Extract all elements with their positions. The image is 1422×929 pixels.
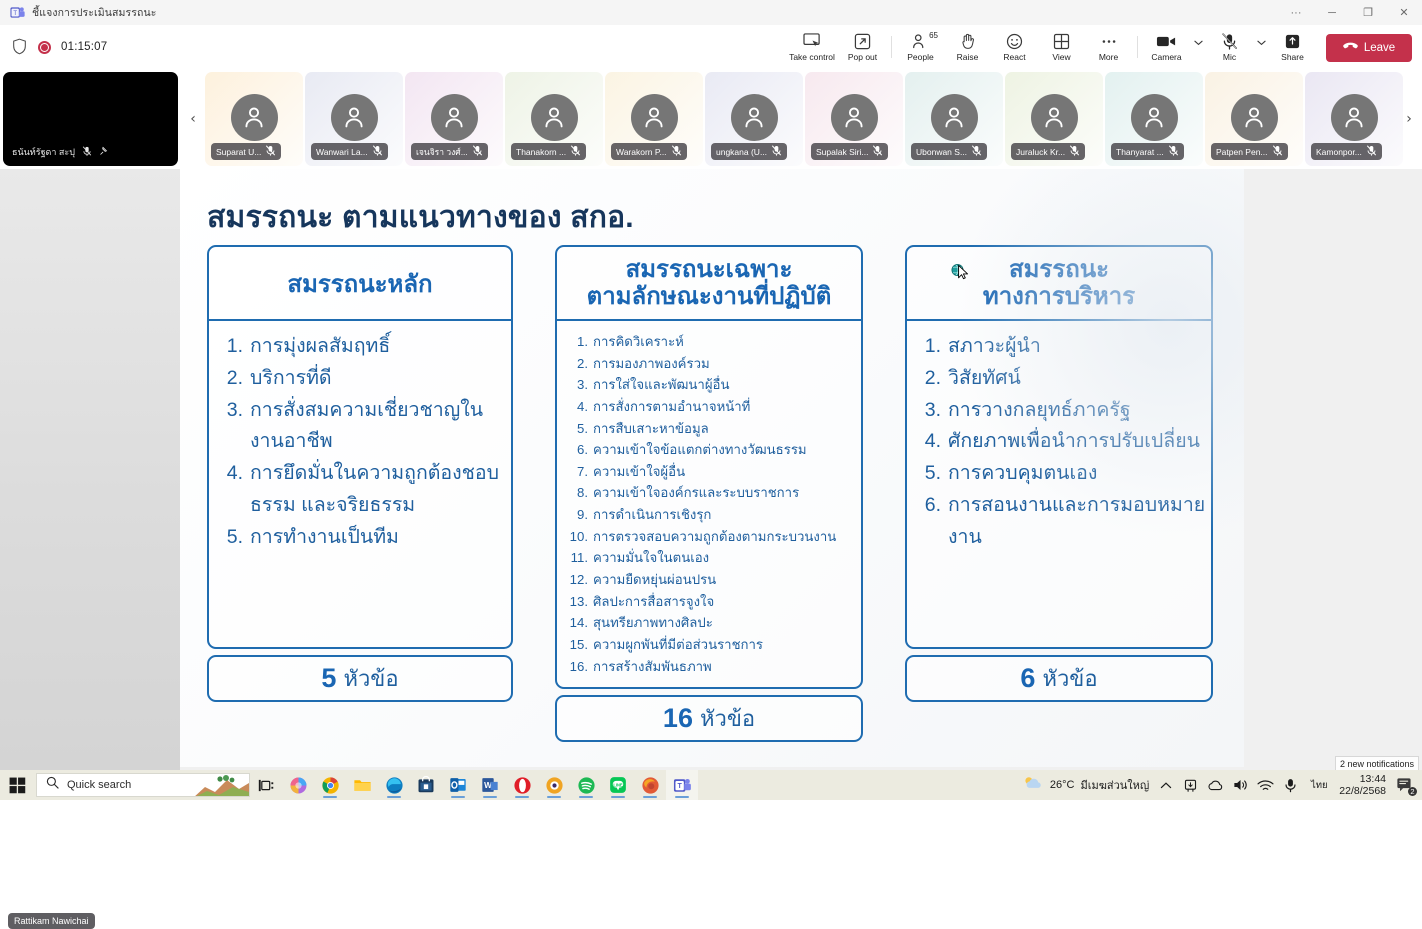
list-item-text: วิสัยทัศน์ [948, 363, 1207, 395]
list-item-number: 5. [561, 418, 588, 440]
participant-mic-muted-icon [971, 145, 982, 159]
recording-timer: 01:15:07 [61, 41, 107, 53]
list-item: 1.การมุ่งผลสัมฤทธิ์ [213, 331, 507, 363]
list-item: 3.การวางกลยุทธ์ภาครัฐ [911, 395, 1207, 427]
participant-name-tag: Juraluck Kr... [1011, 143, 1085, 160]
spotify-running-indicator [579, 796, 593, 798]
windows-taskbar: Quick search [0, 770, 1422, 800]
raise-hand-icon [960, 32, 976, 51]
participant-name-tag: Wanwari La... [311, 143, 388, 160]
participant-name-tag: Thanyarat ... [1111, 143, 1184, 160]
wifi-icon[interactable] [1257, 777, 1274, 794]
list-item-number: 2. [911, 363, 941, 395]
functional-card-heading: สมรรถนะเฉพาะ ตามลักษณะงานที่ปฏิบัติ [557, 247, 861, 321]
maximize-button[interactable]: ❐ [1350, 0, 1386, 25]
list-item-text: การสั่งการตามอำนาจหน้าที่ [593, 396, 857, 418]
participant-name-tag: Supalak Siri... [811, 143, 888, 160]
list-item-number: 10. [561, 526, 588, 548]
list-item-text: สุนทรียภาพทางศิลปะ [593, 612, 857, 634]
window-title-bar: T ชี้แจงการประเมินสมรรถนะ ··· ─ ❐ ✕ [0, 0, 1422, 25]
pop-out-icon [854, 32, 871, 51]
managerial-count-value: 6 [1020, 663, 1035, 694]
list-item-text: การยึดมั่นในความถูกต้องชอบธรรม และจริยธร… [250, 458, 507, 522]
participant-mic-muted-icon [671, 145, 682, 159]
list-item-text: ความผูกพันที่มีต่อส่วนราชการ [593, 634, 857, 656]
list-item: 10.การตรวจสอบความถูกต้องตามกระบวนงาน [561, 526, 857, 548]
list-item-number: 4. [561, 396, 588, 418]
volume-icon[interactable] [1232, 777, 1249, 794]
competency-column-managerial: สมรรถนะ ทางการบริหาร 1.สภาวะผู้นำ2.วิสัย… [905, 245, 1213, 742]
competency-column-functional: สมรรถนะเฉพาะ ตามลักษณะงานที่ปฏิบัติ 1.กา… [555, 245, 863, 742]
system-tray: 26°C มีเมฆส่วนใหญ่ [1022, 773, 1416, 797]
take-control-button[interactable]: Take control [785, 27, 839, 67]
list-item-text: ความเข้าใจผู้อื่น [593, 461, 857, 483]
outlook-icon[interactable] [442, 770, 474, 800]
microphone-tray-icon[interactable] [1282, 777, 1299, 794]
functional-heading-line-2: ตามลักษณะงานที่ปฏิบัติ [587, 283, 832, 310]
list-item-number: 9. [561, 504, 588, 526]
meeting-toolbar: 01:15:07 Take control Pop out [0, 25, 1422, 69]
weather-cloud-icon [1022, 775, 1044, 796]
avatar [531, 94, 578, 141]
participant-name-label: Thanyarat ... [1116, 147, 1164, 157]
copilot-icon[interactable] [282, 770, 314, 800]
toolbar-actions: Take control Pop out 65 People [785, 27, 1412, 67]
raise-hand-label: Raise [957, 53, 979, 62]
list-item-text: การคิดวิเคราะห์ [593, 331, 857, 353]
raise-hand-button[interactable]: Raise [944, 27, 991, 67]
self-name-row: ธนันท์รัฐดา สะปุ [12, 145, 109, 159]
participant-tiles: Suparat U...Wanwari La...เจนจิรา วงศ์...… [205, 72, 1403, 166]
list-item: 5.การสืบเสาะหาข้อมูล [561, 418, 857, 440]
list-item: 4.การสั่งการตามอำนาจหน้าที่ [561, 396, 857, 418]
list-item-text: การใส่ใจและพัฒนาผู้อื่น [593, 374, 857, 396]
managerial-card: สมรรถนะ ทางการบริหาร 1.สภาวะผู้นำ2.วิสัย… [905, 245, 1213, 649]
list-item-number: 8. [561, 482, 588, 504]
participant-tile[interactable]: Kamonpor... [1305, 72, 1403, 166]
share-label: Share [1281, 53, 1304, 62]
participant-mic-muted-icon [372, 145, 383, 159]
list-item-text: บริการที่ดี [250, 363, 507, 395]
svg-text:T: T [13, 11, 17, 17]
take-control-icon [803, 32, 822, 51]
leave-label: Leave [1364, 42, 1395, 54]
list-item: 5.การควบคุมตนเอง [911, 458, 1207, 490]
participant-tile[interactable]: Thanyarat ... [1105, 72, 1203, 166]
participant-mic-muted-icon [1069, 145, 1080, 159]
search-icon [46, 776, 59, 794]
take-control-label: Take control [789, 53, 835, 62]
clock[interactable]: 13:44 22/8/2568 [1339, 773, 1386, 797]
avatar [1031, 94, 1078, 141]
avatar [1331, 94, 1378, 141]
avatar [331, 94, 378, 141]
participant-name-tag: Thanakorn ... [511, 143, 586, 160]
word-running-indicator [483, 796, 497, 798]
react-smiley-icon [1006, 32, 1023, 51]
functional-heading-line-1: สมรรถนะเฉพาะ [587, 256, 832, 283]
core-count-unit: หัวข้อ [343, 661, 398, 696]
slide-title: สมรรถนะ ตามแนวทางของ สกอ. [207, 194, 634, 241]
list-item: 3.การใส่ใจและพัฒนาผู้อื่น [561, 374, 857, 396]
participant-name-label: Ubonwan S... [916, 147, 967, 157]
chrome-icon[interactable] [314, 770, 346, 800]
managerial-heading-line-1: สมรรถนะ [983, 256, 1135, 283]
line-icon[interactable]: LINE [602, 770, 634, 800]
toolbar-divider-2 [1137, 36, 1138, 58]
self-name-label: ธนันท์รัฐดา สะปุ [12, 145, 75, 159]
list-item-number: 3. [213, 395, 243, 459]
self-mic-muted-icon [82, 146, 92, 159]
participant-name-label: Patpen Pen... [1216, 147, 1268, 157]
participant-name-tag: ungkana (U... [711, 143, 787, 160]
titlebar-more-button[interactable]: ··· [1278, 0, 1314, 25]
managerial-heading-line-2: ทางการบริหาร [983, 283, 1135, 310]
participant-name-label: เจนจิรา วงศ์... [416, 145, 468, 159]
clock-date: 22/8/2568 [1339, 785, 1386, 797]
more-button[interactable]: More [1085, 27, 1132, 67]
mic-chevron-down-icon[interactable] [1253, 27, 1269, 67]
competency-columns: สมรรถนะหลัก 1.การมุ่งผลสัมฤทธิ์2.บริการท… [207, 245, 1217, 742]
list-item-text: การมองภาพองค์รวม [593, 353, 857, 375]
view-label: View [1052, 53, 1070, 62]
presentation-slide[interactable]: สมรรถนะ ตามแนวทางของ สกอ. สมรรถนะหลัก 1.… [180, 169, 1244, 767]
svg-text:LINE: LINE [613, 782, 623, 787]
list-item-number: 6. [911, 490, 941, 554]
functional-count-unit: หัวข้อ [700, 701, 755, 736]
list-item: 7.ความเข้าใจผู้อื่น [561, 461, 857, 483]
participant-mic-muted-icon [1168, 145, 1179, 159]
outlook-running-indicator [451, 796, 465, 798]
list-item-text: สภาวะผู้นำ [948, 331, 1207, 363]
managerial-card-heading: สมรรถนะ ทางการบริหาร [907, 247, 1211, 321]
hangup-icon [1343, 41, 1358, 55]
participant-mic-muted-icon [570, 145, 581, 159]
managerial-card-body: 1.สภาวะผู้นำ2.วิสัยทัศน์3.การวางกลยุทธ์ภ… [907, 321, 1211, 647]
leave-button[interactable]: Leave [1326, 34, 1412, 62]
opera-icon[interactable] [506, 770, 538, 800]
list-item-text: การควบคุมตนเอง [948, 458, 1207, 490]
list-item-text: ศักยภาพเพื่อนำการปรับเปลี่ยน [948, 426, 1207, 458]
window-controls: ··· ─ ❐ ✕ [1278, 0, 1422, 25]
start-icon[interactable] [0, 770, 34, 800]
search-input[interactable]: Quick search [36, 773, 250, 797]
avatar [1131, 94, 1178, 141]
people-icon [912, 32, 929, 51]
participant-name-label: Supalak Siri... [816, 147, 868, 157]
participant-name-tag: Ubonwan S... [911, 143, 987, 160]
self-pin-icon [99, 146, 109, 158]
participant-name-tag: Warakorn P... [611, 143, 687, 160]
participant-name-label: ungkana (U... [716, 147, 767, 157]
avatar [431, 94, 478, 141]
list-item-number: 5. [213, 522, 243, 554]
participant-tile[interactable]: เจนจิรา วงศ์... [405, 72, 503, 166]
list-item: 11.ความมั่นใจในตนเอง [561, 547, 857, 569]
opera-gx-running-indicator [547, 796, 561, 798]
list-item-text: ความมั่นใจในตนเอง [593, 547, 857, 569]
chrome-running-indicator [323, 796, 337, 798]
camera-button[interactable]: Camera [1143, 27, 1190, 67]
weather-widget[interactable]: 26°C มีเมฆส่วนใหญ่ [1022, 775, 1149, 796]
participant-mic-muted-icon [265, 145, 276, 159]
window-title: ชี้แจงการประเมินสมรรถนะ [32, 4, 156, 21]
list-item-number: 3. [911, 395, 941, 427]
avatar [931, 94, 978, 141]
list-item-number: 5. [911, 458, 941, 490]
functional-count-footer: 16 หัวข้อ [555, 695, 863, 742]
toolbar-divider [891, 36, 892, 58]
participant-tile[interactable]: Warakorn P... [605, 72, 703, 166]
participant-tile[interactable]: Ubonwan S... [905, 72, 1003, 166]
avatar [831, 94, 878, 141]
word-icon[interactable]: W [474, 770, 506, 800]
list-item: 8.ความเข้าใจองค์กรและระบบราชการ [561, 482, 857, 504]
shared-content-stage: สมรรถนะ ตามแนวทางของ สกอ. สมรรถนะหลัก 1.… [0, 169, 1422, 770]
tray-expand-chevron-up-icon[interactable] [1157, 777, 1174, 794]
list-item-number: 1. [561, 331, 588, 353]
spotify-icon[interactable] [570, 770, 602, 800]
camera-icon [1156, 32, 1177, 51]
onedrive-icon[interactable] [1182, 777, 1199, 794]
mic-button[interactable]: Mic [1206, 27, 1253, 67]
list-item-number: 3. [561, 374, 588, 396]
competency-column-core: สมรรถนะหลัก 1.การมุ่งผลสัมฤทธิ์2.บริการท… [207, 245, 513, 742]
teams-icon: T [9, 5, 25, 21]
firefox-running-indicator [643, 796, 657, 798]
pop-out-button[interactable]: Pop out [839, 27, 886, 67]
list-item-number: 12. [561, 569, 588, 591]
participant-tile[interactable]: Supalak Siri... [805, 72, 903, 166]
participant-mic-muted-icon [771, 145, 782, 159]
notification-tooltip-label: 2 new notifications [1340, 759, 1414, 769]
people-label: People [907, 53, 933, 62]
more-label: More [1099, 53, 1118, 62]
opera-gx-icon[interactable] [538, 770, 570, 800]
edge-icon[interactable] [378, 770, 410, 800]
clock-time: 13:44 [1360, 773, 1386, 785]
search-placeholder: Quick search [67, 779, 131, 791]
list-item: 6.ความเข้าใจข้อแตกต่างทางวัฒนธรรม [561, 439, 857, 461]
filmstrip-prev-button[interactable]: ‹ [184, 104, 202, 134]
list-item: 2.วิสัยทัศน์ [911, 363, 1207, 395]
share-button[interactable]: Share [1269, 27, 1316, 67]
mic-label: Mic [1223, 53, 1236, 62]
task-view-icon[interactable] [250, 770, 282, 800]
participant-name-label: Suparat U... [216, 147, 261, 157]
core-count-footer: 5 หัวข้อ [207, 655, 513, 702]
view-grid-icon [1053, 32, 1070, 51]
participant-mic-muted-icon [1366, 145, 1377, 159]
avatar [731, 94, 778, 141]
teams-taskbar-icon[interactable]: T [666, 770, 698, 800]
list-item: 2.บริการที่ดี [213, 363, 507, 395]
list-item: 12.ความยืดหยุ่นผ่อนปรน [561, 569, 857, 591]
list-item-text: การดำเนินการเชิงรุก [593, 504, 857, 526]
list-item: 9.การดำเนินการเชิงรุก [561, 504, 857, 526]
participant-name-tag: Suparat U... [211, 143, 281, 160]
functional-card: สมรรถนะเฉพาะ ตามลักษณะงานที่ปฏิบัติ 1.กา… [555, 245, 863, 689]
search-decorative-art [193, 774, 249, 797]
participant-name-label: Thanakorn ... [516, 147, 566, 157]
list-item-number: 7. [561, 461, 588, 483]
mic-muted-icon [1221, 32, 1238, 51]
list-item-number: 6. [561, 439, 588, 461]
list-item: 4.การยึดมั่นในความถูกต้องชอบธรรม และจริย… [213, 458, 507, 522]
participant-tile[interactable]: Juraluck Kr... [1005, 72, 1103, 166]
weather-temperature: 26°C [1050, 779, 1075, 791]
list-item: 2.การมองภาพองค์รวม [561, 353, 857, 375]
presenter-name-badge: Rattikam Nawichai [8, 913, 95, 929]
recording-status-group: 01:15:07 [12, 38, 107, 56]
list-item-number: 4. [213, 458, 243, 522]
list-item-text: ความเข้าใจข้อแตกต่างทางวัฒนธรรม [593, 439, 857, 461]
svg-text:T: T [677, 782, 682, 789]
list-item-text: การสั่งสมความเชี่ยวชาญในงานอาชีพ [250, 395, 507, 459]
participant-mic-muted-icon [872, 145, 883, 159]
participant-name-tag: Kamonpor... [1311, 143, 1382, 160]
list-item-text: การสร้างสัมพันธภาพ [593, 656, 857, 678]
avatar [231, 94, 278, 141]
list-item-number: 11. [561, 547, 588, 569]
list-item-number: 1. [911, 331, 941, 363]
list-item-number: 2. [561, 353, 588, 375]
busy-cursor-icon [950, 262, 970, 282]
participant-name-label: Warakorn P... [616, 147, 667, 157]
teams-running-indicator [675, 796, 689, 798]
core-heading-line-1: สมรรถนะหลัก [287, 264, 432, 303]
list-item-text: การสืบเสาะหาข้อมูล [593, 418, 857, 440]
list-item: 15.ความผูกพันที่มีต่อส่วนราชการ [561, 634, 857, 656]
list-item-text: การสอนงานและการมอบหมายงาน [948, 490, 1207, 554]
share-tray-icon [1284, 32, 1301, 51]
core-card: สมรรถนะหลัก 1.การมุ่งผลสัมฤทธิ์2.บริการท… [207, 245, 513, 649]
edge-running-indicator [387, 796, 401, 798]
close-button[interactable]: ✕ [1386, 0, 1422, 25]
list-item: 16.การสร้างสัมพันธภาพ [561, 656, 857, 678]
list-item-number: 2. [213, 363, 243, 395]
list-item-text: การมุ่งผลสัมฤทธิ์ [250, 331, 507, 363]
list-item-text: การตรวจสอบความถูกต้องตามกระบวนงาน [593, 526, 857, 548]
core-count-value: 5 [321, 663, 336, 694]
list-item: 1.สภาวะผู้นำ [911, 331, 1207, 363]
participant-mic-muted-icon [472, 145, 483, 159]
participant-mic-muted-icon [1272, 145, 1283, 159]
cloud-sync-icon[interactable] [1207, 777, 1224, 794]
minimize-button[interactable]: ─ [1314, 0, 1350, 25]
view-button[interactable]: View [1038, 27, 1085, 67]
list-item: 13.ศิลปะการสื่อสารจูงใจ [561, 591, 857, 613]
list-item-text: ความยืดหยุ่นผ่อนปรน [593, 569, 857, 591]
notification-tooltip: 2 new notifications [1335, 756, 1419, 771]
participant-tile[interactable]: Wanwari La... [305, 72, 403, 166]
participant-name-label: Juraluck Kr... [1016, 147, 1065, 157]
core-list: 1.การมุ่งผลสัมฤทธิ์2.บริการที่ดี3.การสั่… [213, 331, 507, 553]
functional-card-body: 1.การคิดวิเคราะห์2.การมองภาพองค์รวม3.การ… [557, 321, 861, 687]
self-video-tile[interactable]: ธนันท์รัฐดา สะปุ [3, 72, 178, 166]
stage-left-letterbox [0, 169, 180, 770]
avatar [1231, 94, 1278, 141]
language-indicator[interactable]: ไทย [1307, 777, 1331, 794]
react-button[interactable]: React [991, 27, 1038, 67]
weather-condition: มีเมฆส่วนใหญ่ [1080, 776, 1149, 794]
pop-out-label: Pop out [848, 53, 877, 62]
list-item-text: การวางกลยุทธ์ภาครัฐ [948, 395, 1207, 427]
participant-name-label: Kamonpor... [1316, 147, 1362, 157]
participant-tile[interactable]: Patpen Pen... [1205, 72, 1303, 166]
avatar [631, 94, 678, 141]
list-item: 1.การคิดวิเคราะห์ [561, 331, 857, 353]
store-icon[interactable] [410, 770, 442, 800]
list-item-text: ความเข้าใจองค์กรและระบบราชการ [593, 482, 857, 504]
file-explorer-icon[interactable] [346, 770, 378, 800]
people-count: 65 [929, 31, 938, 40]
list-item-number: 16. [561, 656, 588, 678]
participant-name-tag: เจนจิรา วงศ์... [411, 143, 488, 160]
list-item: 5.การทำงานเป็นทีม [213, 522, 507, 554]
camera-chevron-down-icon[interactable] [1190, 27, 1206, 67]
core-card-body: 1.การมุ่งผลสัมฤทธิ์2.บริการที่ดี3.การสั่… [209, 321, 511, 647]
participant-name-label: Wanwari La... [316, 147, 368, 157]
more-ellipsis-icon [1100, 32, 1118, 51]
list-item-text: การทำงานเป็นทีม [250, 522, 507, 554]
participant-tile[interactable]: ungkana (U... [705, 72, 803, 166]
opera-running-indicator [515, 796, 529, 798]
presenter-name-label: Rattikam Nawichai [14, 916, 89, 926]
list-item-number: 13. [561, 591, 588, 613]
people-button[interactable]: 65 People [897, 27, 944, 67]
functional-count-value: 16 [663, 703, 693, 734]
camera-label: Camera [1151, 53, 1181, 62]
managerial-list: 1.สภาวะผู้นำ2.วิสัยทัศน์3.การวางกลยุทธ์ภ… [911, 331, 1207, 553]
firefox-icon[interactable] [634, 770, 666, 800]
shield-icon[interactable] [12, 38, 28, 56]
react-label: React [1003, 53, 1025, 62]
managerial-count-unit: หัวข้อ [1042, 661, 1097, 696]
participant-name-tag: Patpen Pen... [1211, 143, 1288, 160]
list-item: 6.การสอนงานและการมอบหมายงาน [911, 490, 1207, 554]
language-label: ไทย [1311, 778, 1328, 793]
list-item-number: 4. [911, 426, 941, 458]
list-item-number: 14. [561, 612, 588, 634]
core-card-heading: สมรรถนะหลัก [209, 247, 511, 321]
participant-filmstrip: ธนันท์รัฐดา สะปุ ‹ › Suparat U...Wanwari… [0, 69, 1422, 169]
notification-center-button[interactable]: 2 [1394, 774, 1416, 796]
recording-indicator-icon [38, 41, 51, 54]
list-item-number: 15. [561, 634, 588, 656]
line-running-indicator [611, 796, 625, 798]
participant-tile[interactable]: Suparat U... [205, 72, 303, 166]
functional-list: 1.การคิดวิเคราะห์2.การมองภาพองค์รวม3.การ… [561, 331, 857, 677]
list-item: 4.ศักยภาพเพื่อนำการปรับเปลี่ยน [911, 426, 1207, 458]
participant-tile[interactable]: Thanakorn ... [505, 72, 603, 166]
list-item-number: 1. [213, 331, 243, 363]
managerial-count-footer: 6 หัวข้อ [905, 655, 1213, 702]
list-item: 14.สุนทรียภาพทางศิลปะ [561, 612, 857, 634]
list-item: 3.การสั่งสมความเชี่ยวชาญในงานอาชีพ [213, 395, 507, 459]
list-item-text: ศิลปะการสื่อสารจูงใจ [593, 591, 857, 613]
notification-count-badge: 2 [1408, 787, 1417, 796]
